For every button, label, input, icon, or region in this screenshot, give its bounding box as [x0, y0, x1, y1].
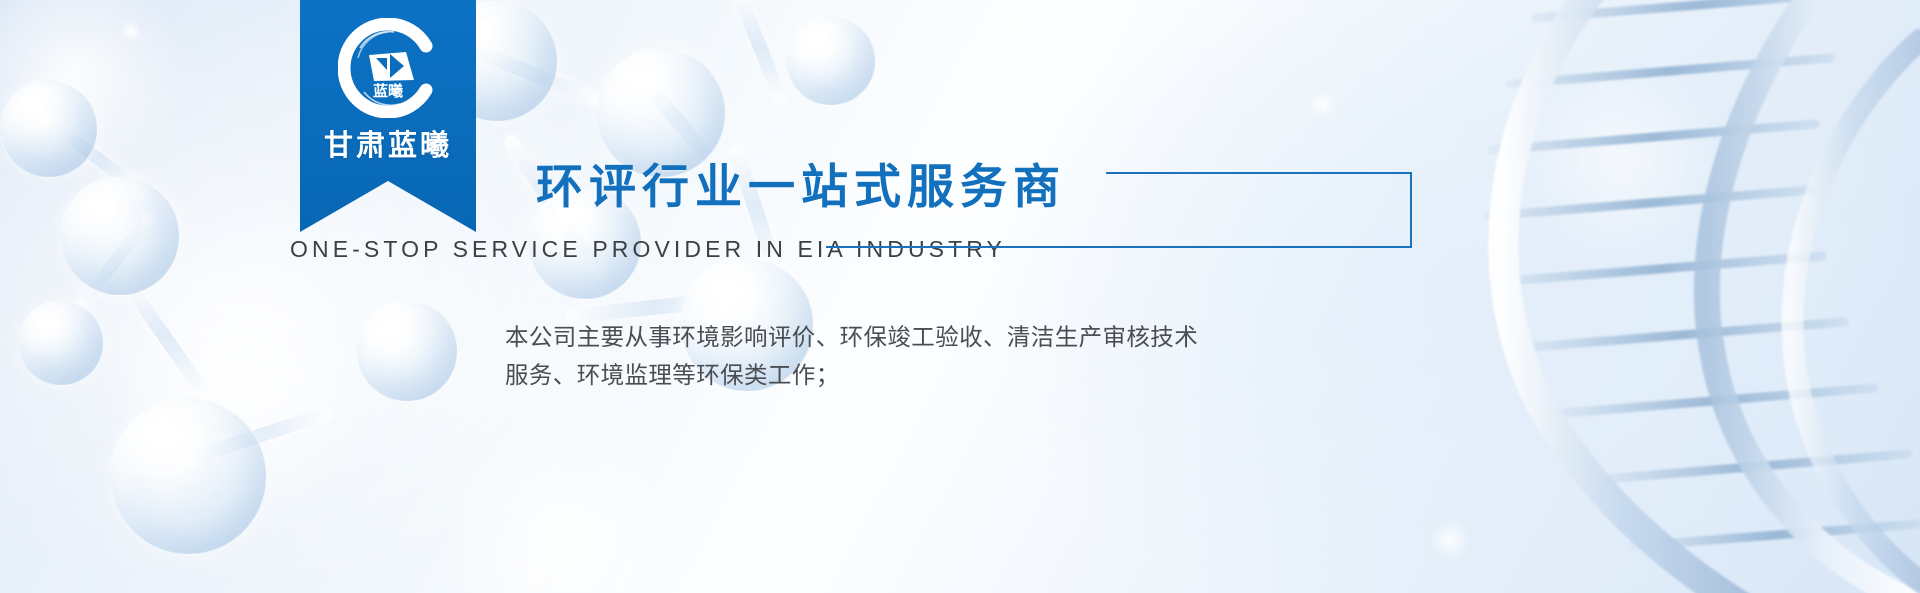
bokeh-dot — [1310, 92, 1336, 118]
molecule-bond — [731, 0, 789, 105]
bokeh-dot — [520, 560, 550, 590]
brand-ribbon-badge: 蓝曦 甘肃蓝曦 — [300, 0, 476, 232]
dna-double-helix — [1360, 0, 1920, 593]
molecule-atom — [356, 300, 458, 402]
molecule-atom — [60, 176, 180, 296]
hero-banner: 蓝曦 甘肃蓝曦 环评行业一站式服务商 ONE-STOP SERVICE PROV… — [0, 0, 1920, 593]
svg-text:蓝曦: 蓝曦 — [373, 82, 403, 100]
bokeh-dot — [120, 20, 142, 42]
bracket-line-bottom — [826, 246, 1412, 248]
lanxi-circular-logo-icon: 蓝曦 — [300, 16, 476, 120]
page-title: 环评行业一站式服务商 — [536, 148, 1066, 217]
ribbon-company-name: 甘肃蓝曦 — [300, 122, 476, 164]
page-subtitle: ONE-STOP SERVICE PROVIDER IN EIA INDUSTR… — [290, 236, 1006, 263]
banner-description: 本公司主要从事环境影响评价、环保竣工验收、清洁生产审核技术 服务、环境监理等环保… — [505, 318, 1325, 394]
molecule-atom — [18, 300, 104, 386]
bracket-line-top — [1106, 172, 1412, 174]
molecule-atom — [786, 16, 876, 106]
description-line-2: 服务、环境监理等环保类工作； — [505, 356, 1325, 394]
molecule-atom — [0, 80, 98, 178]
molecule-atom — [110, 398, 267, 555]
description-line-1: 本公司主要从事环境影响评价、环保竣工验收、清洁生产审核技术 — [505, 318, 1325, 356]
bracket-line-vertical — [1410, 172, 1412, 248]
bokeh-glow — [430, 430, 690, 593]
